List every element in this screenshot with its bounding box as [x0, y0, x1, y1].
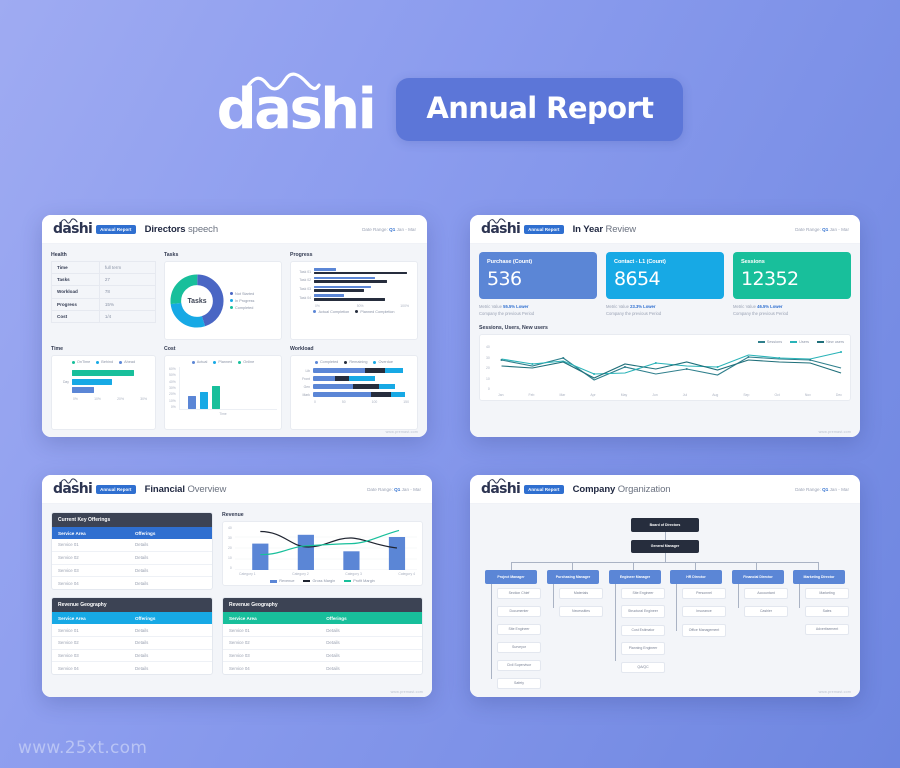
- table-row: Service 02 Details: [52, 552, 212, 565]
- org-node-general-manager[interactable]: General Manager: [631, 540, 699, 553]
- bar-actual: [314, 277, 375, 280]
- column-header: Service Area: [58, 531, 135, 536]
- kpi-note: Metric Value 23.3% Lower Company the pre…: [606, 304, 724, 317]
- axis-tick: Aug: [712, 393, 718, 397]
- cell-offering: Details: [135, 555, 206, 560]
- axis-tick: 50%: [169, 373, 176, 377]
- seg-overdue: [349, 376, 375, 381]
- connector: [738, 582, 739, 608]
- table-row: Service 04 Details: [223, 662, 422, 674]
- workload-legend: Completed Remaining Overdue: [295, 360, 413, 364]
- legend-label: Revenue: [279, 579, 294, 583]
- legend-dot-icon: [315, 361, 318, 364]
- column-header: Offerings: [135, 616, 206, 621]
- time-legend: OnTime Behind Ahead: [56, 360, 151, 364]
- cell-offering: Details: [135, 666, 206, 671]
- legend-dot-icon: [344, 361, 347, 364]
- legend-label: OnTime: [77, 360, 90, 364]
- org-leaf-personnel[interactable]: Personnel: [682, 588, 726, 599]
- connector: [615, 582, 616, 661]
- masthead: dashi Annual Report: [0, 78, 900, 141]
- legend-label: Remaining: [349, 360, 367, 364]
- kpi-label: Contact - L1 (Count): [614, 259, 716, 265]
- table-header: Service Area Offerings: [223, 612, 422, 624]
- sessions-plot: [493, 345, 844, 391]
- connector: [799, 582, 800, 608]
- kpi-contact[interactable]: Contact - L1 (Count) 8654 Metric Value 2…: [606, 252, 724, 317]
- bar-actual: [314, 268, 336, 271]
- annual-report-badge: Annual Report: [396, 78, 683, 141]
- sessions-xaxis: Jan Feb Mar Apr May Jun Jul Aug Sep Oct …: [498, 393, 842, 397]
- kpi-row: Purchase (Count) 536 Metric Value 55.5% …: [479, 252, 851, 317]
- cell-offering: Details: [135, 568, 206, 573]
- cell-service: Service 04: [58, 666, 135, 671]
- legend-label: Completed: [320, 360, 338, 364]
- table-row: Cost 1/4: [52, 310, 156, 322]
- legend-dash-icon: [817, 341, 824, 343]
- slide2-title-light: Review: [605, 224, 636, 235]
- slide-in-year-review[interactable]: dashi Annual Report In Year Review Date …: [470, 215, 860, 437]
- workload-chart: Completed Remaining Overdue Lib: [290, 355, 418, 430]
- table-row: Time full term: [52, 262, 156, 274]
- axis-tick: 0%: [73, 397, 78, 401]
- legend-item: Completed: [230, 306, 253, 310]
- legend-item: Online: [238, 360, 254, 364]
- seg-completed: [313, 368, 365, 373]
- date-range-label: Date Range: [367, 487, 392, 492]
- cell-service: Service 01: [58, 542, 135, 547]
- cell-service: Service 03: [58, 568, 135, 573]
- legend-item: New users: [817, 340, 844, 344]
- slide2-footer: www.premast.com: [819, 430, 851, 434]
- bar-category: Gen: [295, 385, 310, 389]
- slide1-title: Directors speech: [145, 224, 218, 235]
- org-leaf-advertisement[interactable]: Advertisement: [805, 624, 849, 635]
- legend-dash-icon: [790, 341, 797, 343]
- bar-category: Task 01: [295, 270, 311, 274]
- mini-logo: dashi: [481, 222, 520, 236]
- bar-planned: [314, 280, 387, 283]
- axis-tick: Oct: [774, 393, 779, 397]
- legend-dot-icon: [313, 310, 316, 313]
- column-header: Service Area: [58, 616, 135, 621]
- org-leaf-qa-qc[interactable]: QA/QC: [621, 662, 665, 673]
- seg-completed: [313, 384, 353, 389]
- org-node-engineer-manager[interactable]: Engineer Manager: [609, 570, 661, 584]
- seg-remaining: [365, 368, 385, 373]
- axis-tick: 10%: [94, 397, 101, 401]
- health-value: 15%: [99, 298, 155, 310]
- slide4-body: Board of Directors General Manager Proje…: [470, 504, 860, 697]
- progress-label: Progress: [290, 252, 418, 258]
- org-leaf-surveyor[interactable]: Surveyor: [497, 642, 541, 653]
- kpi-note-post: Company the previous Period: [733, 311, 788, 316]
- legend-label: Not Started: [235, 292, 254, 296]
- org-node-marketing-director[interactable]: Marketing Director: [793, 570, 845, 584]
- legend-item: Planned: [213, 360, 232, 364]
- cell-offering: Details: [135, 581, 206, 586]
- bar-category: Day: [56, 380, 69, 384]
- table-title: Revenue Geography: [223, 598, 422, 612]
- connector: [553, 582, 554, 608]
- kpi-label: Sessions: [741, 259, 843, 265]
- health-key: Tasks: [52, 274, 100, 286]
- org-leaf-office-management[interactable]: Office Management: [682, 624, 726, 637]
- org-leaf-cashier[interactable]: Cashier: [744, 606, 788, 617]
- workload-xaxis: 0 50 100 150: [314, 400, 409, 404]
- table-row: Tasks 27: [52, 274, 156, 286]
- kpi-note-bold: 23.3% Lower: [630, 304, 655, 309]
- slide3-title-light: Overview: [187, 484, 226, 495]
- date-range-months: Jan - Mar: [830, 487, 849, 492]
- kpi-card: Sessions 12352: [733, 252, 851, 299]
- slide1-body: Health Time full term Tasks 27 Workload …: [42, 244, 427, 437]
- slide4-date-range: Date Range: Q1 Jan - Mar: [795, 487, 849, 492]
- legend-item: Not Started: [230, 292, 254, 296]
- axis-tick: Sep: [743, 393, 749, 397]
- table-row: Service 03 Details: [223, 650, 422, 663]
- axis-tick: 50%: [357, 304, 364, 308]
- axis-tick: 30: [228, 536, 232, 540]
- kpi-note: Metric Value 55.5% Lower Company the pre…: [479, 304, 597, 317]
- revenue-chart-section: Revenue 40 30 20 10 0: [222, 512, 423, 590]
- date-range-months: Jan - Mar: [397, 227, 416, 232]
- progress-chart: Task 01 Task 02 Ta: [290, 261, 418, 340]
- legend-label: Completed: [235, 306, 253, 310]
- geo-table-right: Revenue Geography Service Area Offerings…: [222, 597, 423, 675]
- date-range-quarter: Q1: [394, 487, 400, 492]
- cell-offering: Details: [326, 653, 416, 658]
- legend-label: New users: [826, 340, 844, 344]
- axis-tick: Jul: [683, 393, 687, 397]
- bar-category: Front: [295, 377, 310, 381]
- bar-planned: [314, 272, 407, 275]
- slide-company-organization[interactable]: dashi Annual Report Company Organization…: [470, 475, 860, 697]
- legend-dash-icon: [303, 580, 310, 582]
- health-value: 78: [99, 286, 155, 298]
- legend-dot-icon: [238, 361, 241, 364]
- org-leaf-site-engineer-2[interactable]: Site Engineer: [621, 588, 665, 599]
- time-label: Time: [51, 346, 156, 352]
- legend-label: In Progress: [235, 299, 254, 303]
- sessions-chart-section: Sessions, Users, New users Sessions User…: [479, 325, 851, 401]
- kpi-purchase[interactable]: Purchase (Count) 536 Metric Value 55.5% …: [479, 252, 597, 317]
- slide1-date-range: Date Range: Q1 Jan - Mar: [362, 227, 416, 232]
- seg-remaining: [353, 384, 379, 389]
- axis-tick: 60%: [169, 367, 176, 371]
- date-range-label: Date Range: [362, 227, 387, 232]
- connector: [491, 582, 492, 679]
- progress-xaxis: 0% 50% 100%: [315, 304, 409, 308]
- cell-service: Service 01: [58, 628, 135, 633]
- org-leaf-sales[interactable]: Sales: [805, 606, 849, 617]
- legend-item: Planned Completion: [355, 310, 394, 314]
- connector: [511, 562, 512, 570]
- health-value: 1/4: [99, 310, 155, 322]
- cell-service: Service 02: [229, 640, 326, 645]
- seg-remaining: [371, 392, 391, 397]
- axis-tick: 0%: [315, 304, 320, 308]
- org-node-hr-director[interactable]: HR Director: [670, 570, 722, 584]
- table-row: Service 02 Details: [52, 637, 212, 650]
- kpi-value: 8654: [614, 268, 716, 290]
- org-leaf-site-engineer[interactable]: Site Engineer: [497, 624, 541, 635]
- slide-directors-speech[interactable]: dashi Annual Report Directors speech Dat…: [42, 215, 427, 437]
- legend-label: Ahead: [124, 360, 135, 364]
- legend-dot-icon: [192, 361, 195, 364]
- table-header: Service Area Offerings: [52, 612, 212, 624]
- org-node-financial-director[interactable]: Financial Director: [732, 570, 784, 584]
- cell-offering: Details: [326, 628, 416, 633]
- time-section: Time OnTime Behind Ahead: [51, 346, 156, 430]
- mini-squiggle-icon: [60, 478, 79, 484]
- org-leaf-structural-engineer[interactable]: Structural Engineer: [621, 605, 665, 618]
- table-row: Service 02 Details: [223, 637, 422, 650]
- chart-row: Mark: [295, 392, 413, 397]
- table-header: Service Area Offerings: [52, 527, 212, 539]
- cost-legend: Actual Planned Online: [169, 360, 277, 364]
- chart-row: Gen: [295, 384, 413, 389]
- revenue-plot: [235, 526, 417, 570]
- org-leaf-civil-supervisor[interactable]: Civil Supervisor: [497, 660, 541, 671]
- axis-tick: Category 4: [398, 572, 415, 576]
- table-row: Service 01 Details: [52, 624, 212, 637]
- seg-overdue: [385, 368, 403, 373]
- slide1-title-light: speech: [188, 224, 218, 235]
- cell-offering: Details: [326, 666, 416, 671]
- org-leaf-cost-estimator[interactable]: Cost Estimator: [621, 625, 665, 636]
- table-row: Service 04 Details: [52, 577, 212, 589]
- legend-label: Sessions: [767, 340, 782, 344]
- health-value: full term: [99, 262, 155, 274]
- cost-yaxis: 60% 50% 40% 30% 20% 10% 0%: [169, 367, 176, 409]
- health-key: Progress: [52, 298, 100, 310]
- kpi-card: Purchase (Count) 536: [479, 252, 597, 299]
- slide2-date-range: Date Range: Q1 Jan - Mar: [795, 227, 849, 232]
- legend-dash-icon: [344, 580, 351, 582]
- chart-row: Task 01: [295, 268, 413, 275]
- cell-service: Service 04: [229, 666, 326, 671]
- health-label: Health: [51, 252, 156, 258]
- axis-tick: Jan: [498, 393, 503, 397]
- column-header: Offerings: [135, 531, 206, 536]
- legend-dot-icon: [96, 361, 99, 364]
- seg-remaining: [335, 376, 349, 381]
- kpi-value: 12352: [741, 268, 843, 290]
- table-title: Revenue Geography: [52, 598, 212, 612]
- kpi-note-pre: Metric Value: [606, 304, 630, 309]
- slide2-title-bold: In Year: [573, 224, 603, 235]
- progress-legend: Actual Completion Planned Completion: [295, 310, 413, 314]
- axis-tick: 10%: [169, 399, 176, 403]
- cost-chart: Actual Planned Online 60% 50% 40%: [164, 355, 282, 430]
- squiggle-icon: [245, 72, 321, 92]
- org-node-project-manager[interactable]: Project Manager: [485, 570, 537, 584]
- mini-logo: dashi: [53, 222, 92, 236]
- org-leaf-safety[interactable]: Safety: [497, 678, 541, 689]
- geo-table-left-section: Revenue Geography Service Area Offerings…: [51, 597, 213, 675]
- chart-row: Lib: [295, 368, 413, 373]
- revenue-xaxis: Category 1 Category 2 Category 3 Categor…: [239, 572, 415, 576]
- axis-tick: Category 2: [292, 572, 309, 576]
- org-node-board[interactable]: Board of Directors: [631, 518, 699, 532]
- mini-report-badge: Annual Report: [96, 485, 136, 494]
- cell-service: Service 03: [58, 653, 135, 658]
- geo-table-left: Revenue Geography Service Area Offerings…: [51, 597, 213, 675]
- axis-tick: Category 3: [345, 572, 362, 576]
- legend-dot-icon: [373, 361, 376, 364]
- mini-logo: dashi: [53, 482, 92, 496]
- legend-dot-icon: [72, 361, 75, 364]
- bar-behind: [72, 379, 112, 385]
- column-header: Offerings: [326, 616, 416, 621]
- mini-report-badge: Annual Report: [524, 485, 564, 494]
- slide3-footer: www.premast.com: [391, 690, 423, 694]
- connector: [665, 552, 666, 562]
- slide2-header: dashi Annual Report In Year Review Date …: [470, 215, 860, 244]
- kpi-value: 536: [487, 268, 589, 290]
- legend-bar-icon: [270, 580, 277, 583]
- axis-tick: 150: [403, 400, 409, 404]
- legend-label: Overdue: [378, 360, 393, 364]
- date-range-months: Jan - Mar: [402, 487, 421, 492]
- legend-item: Sessions: [758, 340, 782, 344]
- org-leaf-materials[interactable]: Materials: [559, 588, 603, 599]
- workload-label: Workload: [290, 346, 418, 352]
- slide2-title: In Year Review: [573, 224, 636, 235]
- legend-label: Planned Completion: [360, 310, 394, 314]
- health-section: Health Time full term Tasks 27 Workload …: [51, 252, 156, 340]
- date-range-label: Date Range: [795, 227, 820, 232]
- tasks-section: Tasks Tasks Not Started: [164, 252, 282, 340]
- legend-item: Actual: [192, 360, 208, 364]
- cell-offering: Details: [135, 628, 206, 633]
- slide1-footer: www.premast.com: [386, 430, 418, 434]
- date-range-quarter: Q1: [822, 227, 828, 232]
- health-key: Cost: [52, 310, 100, 322]
- org-leaf-planning-engineer[interactable]: Planning Engineer: [621, 642, 665, 655]
- legend-dot-icon: [230, 299, 233, 302]
- cost-section: Cost Actual Planned Online: [164, 346, 282, 430]
- bar-actual: [314, 286, 371, 289]
- seg-completed: [313, 376, 335, 381]
- chart-row: Task 03: [295, 286, 413, 293]
- connector: [633, 562, 634, 570]
- date-range-quarter: Q1: [389, 227, 395, 232]
- legend-item: Completed: [315, 360, 338, 364]
- seg-overdue: [379, 384, 395, 389]
- sessions-legend: Sessions Users New users: [486, 340, 844, 344]
- cell-offering: Details: [326, 640, 416, 645]
- sessions-yaxis: 40 30 20 10 0: [486, 345, 490, 391]
- axis-tick: 20%: [117, 397, 124, 401]
- axis-tick: 40%: [169, 380, 176, 384]
- table-row: Service 01 Details: [223, 624, 422, 637]
- annual-report-label: Annual Report: [426, 91, 653, 125]
- axis-tick: 50: [342, 400, 346, 404]
- site-watermark: www.25xt.com: [18, 738, 147, 758]
- slide1-header: dashi Annual Report Directors speech Dat…: [42, 215, 427, 244]
- workload-section: Workload Completed Remaining Overdue: [290, 346, 418, 430]
- kpi-note-post: Company the previous Period: [479, 311, 534, 316]
- axis-tick: Nov: [805, 393, 811, 397]
- mini-squiggle-icon: [488, 218, 507, 224]
- org-node-purchasing-manager[interactable]: Purchasing Manager: [547, 570, 599, 584]
- org-leaf-marketing[interactable]: Marketing: [805, 588, 849, 599]
- axis-tick: 0%: [169, 405, 176, 409]
- kpi-note-post: Company the previous Period: [606, 311, 661, 316]
- health-key: Time: [52, 262, 100, 274]
- org-leaf-necessities[interactable]: Necessities: [559, 606, 603, 617]
- bar-ontime: [72, 370, 134, 376]
- revenue-chart-title: Revenue: [222, 512, 423, 518]
- slide3-title: Financial Overview: [145, 484, 227, 495]
- axis-tick: Dec: [836, 393, 842, 397]
- slide-financial-overview[interactable]: dashi Annual Report Financial Overview D…: [42, 475, 432, 697]
- org-leaf-accountant[interactable]: Accountant: [744, 588, 788, 599]
- connector: [572, 562, 573, 570]
- legend-item: Ahead: [119, 360, 135, 364]
- mini-squiggle-icon: [60, 218, 79, 224]
- org-leaf-insurance[interactable]: Insurance: [682, 606, 726, 617]
- bar-category: Task 02: [295, 278, 311, 282]
- connector: [818, 562, 819, 570]
- bar-online: [212, 386, 220, 409]
- kpi-label: Purchase (Count): [487, 259, 589, 265]
- axis-tick: 30%: [169, 386, 176, 390]
- cell-service: Service 02: [58, 555, 135, 560]
- axis-tick: Jun: [652, 393, 657, 397]
- org-leaf-section-chief[interactable]: Section Chief: [497, 588, 541, 599]
- slide3-date-range: Date Range: Q1 Jan - Mar: [367, 487, 421, 492]
- org-leaf-documenter[interactable]: Documenter: [497, 606, 541, 617]
- axis-tick: May: [621, 393, 627, 397]
- connector: [756, 562, 757, 570]
- legend-item: Remaining: [344, 360, 367, 364]
- mini-report-badge: Annual Report: [524, 225, 564, 234]
- kpi-note-bold: 55.5% Lower: [503, 304, 528, 309]
- kpi-sessions[interactable]: Sessions 12352 Metric Value 46.5% Lower …: [733, 252, 851, 317]
- seg-overdue: [391, 392, 405, 397]
- axis-tick: 100%: [400, 304, 409, 308]
- bar-category: Task 03: [295, 287, 311, 291]
- connector: [511, 562, 819, 563]
- axis-tick: Category 1: [239, 572, 256, 576]
- axis-tick: 20: [486, 366, 490, 370]
- slide4-footer: www.premast.com: [819, 690, 851, 694]
- legend-dash-icon: [758, 341, 765, 343]
- bar-category: Task 04: [295, 296, 311, 300]
- cell-offering: Details: [135, 542, 206, 547]
- cell-offering: Details: [135, 640, 206, 645]
- sessions-chart-title: Sessions, Users, New users: [479, 325, 851, 331]
- brand-logo: dashi: [217, 82, 375, 138]
- legend-label: Planned: [218, 360, 232, 364]
- legend-label: Actual: [197, 360, 208, 364]
- slide4-title: Company Organization: [573, 484, 671, 495]
- revenue-yaxis: 40 30 20 10 0: [228, 526, 232, 570]
- date-range-quarter: Q1: [822, 487, 828, 492]
- legend-dot-icon: [213, 361, 216, 364]
- legend-label: Actual Completion: [318, 310, 349, 314]
- column-header: Service Area: [229, 616, 326, 621]
- table-row: Progress 15%: [52, 298, 156, 310]
- offerings-table: Current Key Offerings Service Area Offer…: [51, 512, 213, 590]
- bar-planned: [314, 289, 364, 292]
- donut-icon: Tasks: [169, 273, 225, 329]
- revenue-chart: 40 30 20 10 0: [222, 521, 423, 586]
- axis-tick: 20: [228, 546, 232, 550]
